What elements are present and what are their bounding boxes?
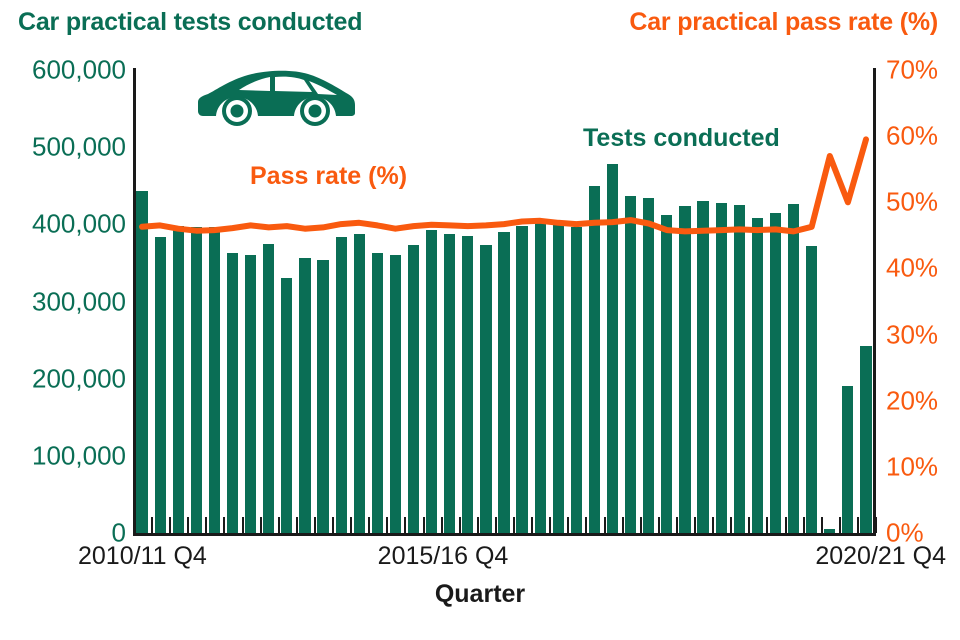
x-axis-tick [839,517,841,533]
x-axis-tick [368,517,370,533]
chart-page: Car practical tests conducted Car practi… [0,0,960,640]
x-axis-tick [549,517,551,533]
x-axis-label-start: 2010/11 Q4 [78,542,207,571]
x-axis-tick [694,517,696,533]
x-axis-tick [332,517,334,533]
x-axis-tick [223,517,225,533]
x-axis-tick [803,517,805,533]
x-axis-tick [766,517,768,533]
x-axis-tick [676,517,678,533]
x-axis-tick [748,517,750,533]
x-axis-tick [151,517,153,533]
y-axis-right-tick-label: 40% [886,253,938,284]
x-axis-tick [169,517,171,533]
x-axis-tick [658,517,660,533]
series-label-pass-rate: Pass rate (%) [250,162,407,191]
x-axis-label-mid: 2015/16 Q4 [378,542,509,571]
x-axis-title: Quarter [0,580,960,609]
y-axis-right-tick-label: 30% [886,319,938,350]
x-axis-tick [857,517,859,533]
x-axis-tick [622,517,624,533]
x-axis-tick [205,517,207,533]
y-axis-left-tick-label: 300,000 [32,286,126,317]
x-axis-tick [640,517,642,533]
x-axis-tick [314,517,316,533]
y-axis-left-tick-label: 400,000 [32,209,126,240]
x-axis-tick [386,517,388,533]
x-axis-tick [459,517,461,533]
car-side-icon [196,66,356,128]
x-axis-tick [821,517,823,533]
y-axis-right-tick-label: 50% [886,187,938,218]
x-axis-tick [513,517,515,533]
x-axis-tick [730,517,732,533]
y-axis-right-tick-label: 10% [886,451,938,482]
x-axis-tick [875,517,877,533]
x-axis-label-end: 2020/21 Q4 [815,542,946,571]
x-axis-tick [404,517,406,533]
x-axis-tick [423,517,425,533]
x-axis-ticks [133,517,876,534]
x-axis-tick [350,517,352,533]
x-axis-tick [260,517,262,533]
y-axis-right-tick-label: 70% [886,55,938,86]
x-axis-tick [495,517,497,533]
x-axis-tick [278,517,280,533]
x-axis-tick [296,517,298,533]
y-axis-left-tick-label: 200,000 [32,363,126,394]
x-axis-tick [441,517,443,533]
x-axis-tick [567,517,569,533]
x-axis-tick [133,517,135,533]
x-axis-tick [785,517,787,533]
x-axis-tick [477,517,479,533]
y-axis-left-tick-label: 500,000 [32,132,126,163]
x-axis-tick [531,517,533,533]
y-axis-right-tick-label: 60% [886,121,938,152]
y-axis-left-tick-label: 600,000 [32,55,126,86]
x-axis-tick [712,517,714,533]
x-axis-tick [242,517,244,533]
y-axis-right-tick-label: 20% [886,385,938,416]
y-axis-left-tick-label: 100,000 [32,440,126,471]
x-axis-tick [585,517,587,533]
x-axis-tick [604,517,606,533]
series-label-tests-conducted: Tests conducted [583,124,780,153]
x-axis-tick [187,517,189,533]
